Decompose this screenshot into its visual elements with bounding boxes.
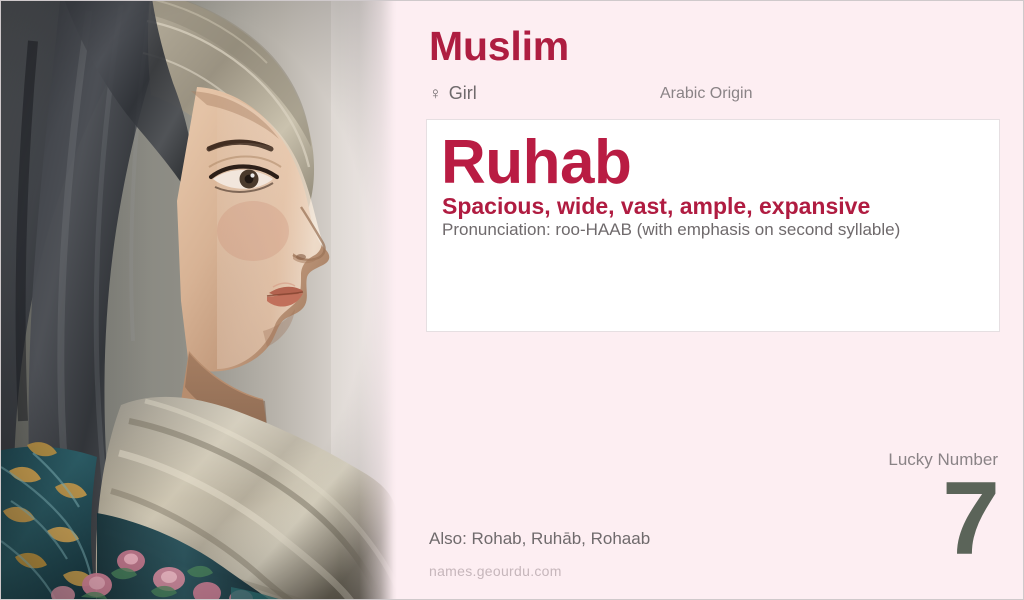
portrait-photo: [1, 1, 397, 600]
portrait-illustration: [1, 1, 397, 600]
lucky-number-block: Lucky Number 7: [778, 451, 998, 568]
name-pronunciation: Pronunciation: roo-HAAB (with emphasis o…: [442, 220, 900, 240]
content-panel: Muslim ♀ Girl Arabic Origin Ruhab Spacio…: [397, 1, 1024, 600]
gender-block: ♀ Girl: [429, 83, 477, 104]
name-detail-card: Ruhab Spacious, wide, vast, ample, expan…: [426, 119, 1000, 332]
site-watermark: names.geourdu.com: [429, 563, 562, 579]
origin-label: Arabic Origin: [660, 85, 752, 103]
name-card-graphic: Muslim ♀ Girl Arabic Origin Ruhab Spacio…: [0, 0, 1024, 600]
gender-label: Girl: [449, 83, 477, 104]
venus-female-icon: ♀: [429, 85, 442, 102]
alternate-spellings: Also: Rohab, Ruhāb, Rohaab: [429, 529, 650, 549]
lucky-number-value: 7: [778, 472, 998, 568]
meta-row: ♀ Girl Arabic Origin: [429, 83, 989, 107]
name-meaning: Spacious, wide, vast, ample, expansive: [442, 193, 870, 221]
name-title: Ruhab: [441, 128, 631, 197]
religion-title: Muslim: [429, 25, 569, 68]
